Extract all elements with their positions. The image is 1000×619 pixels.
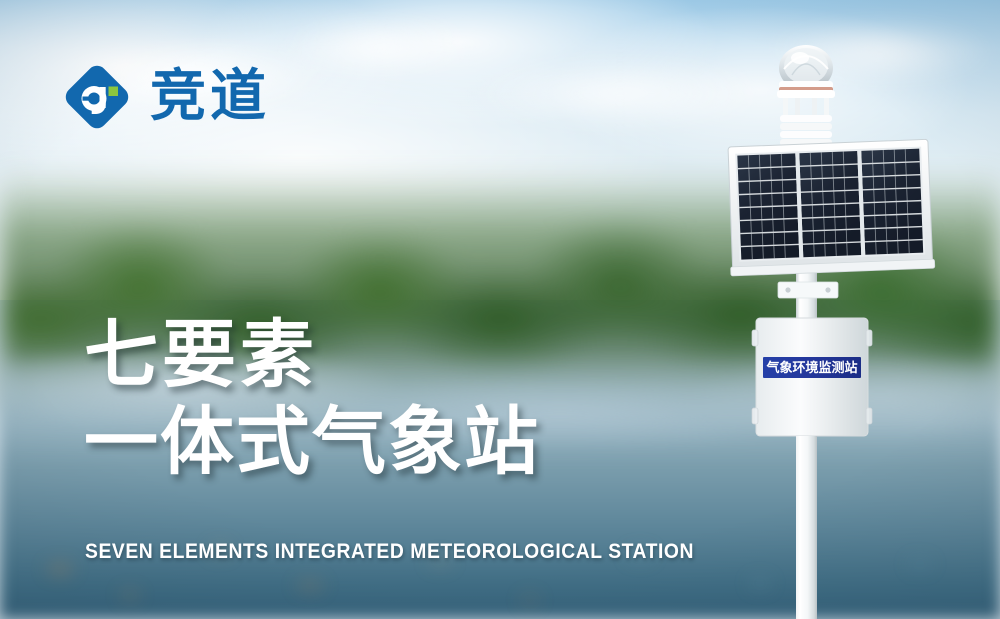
headline-line-2: 一体式气象站: [84, 399, 644, 486]
control-box-label-text: 气象环境监测站: [766, 360, 857, 376]
subtitle: SEVEN ELEMENTS INTEGRATED METEOROLOGICAL…: [85, 540, 694, 564]
promo-banner: 竞道 七要素 一体式气象站 SEVEN ELEMENTS INTEGRATED …: [0, 0, 1000, 619]
jingdao-diamond-logo-icon: [58, 58, 136, 136]
solar-panel: [726, 139, 935, 276]
headline-line-1: 七要素: [84, 312, 644, 399]
weather-station-product: 气象环境监测站: [700, 35, 960, 619]
brand-logo: 竞道: [58, 58, 270, 136]
brand-name: 竞道: [150, 69, 270, 125]
control-box: 气象环境监测站: [752, 318, 872, 436]
panel-mount-bracket: [778, 282, 838, 298]
dome-sensor: [777, 45, 835, 98]
headline: 七要素 一体式气象站: [84, 312, 644, 487]
